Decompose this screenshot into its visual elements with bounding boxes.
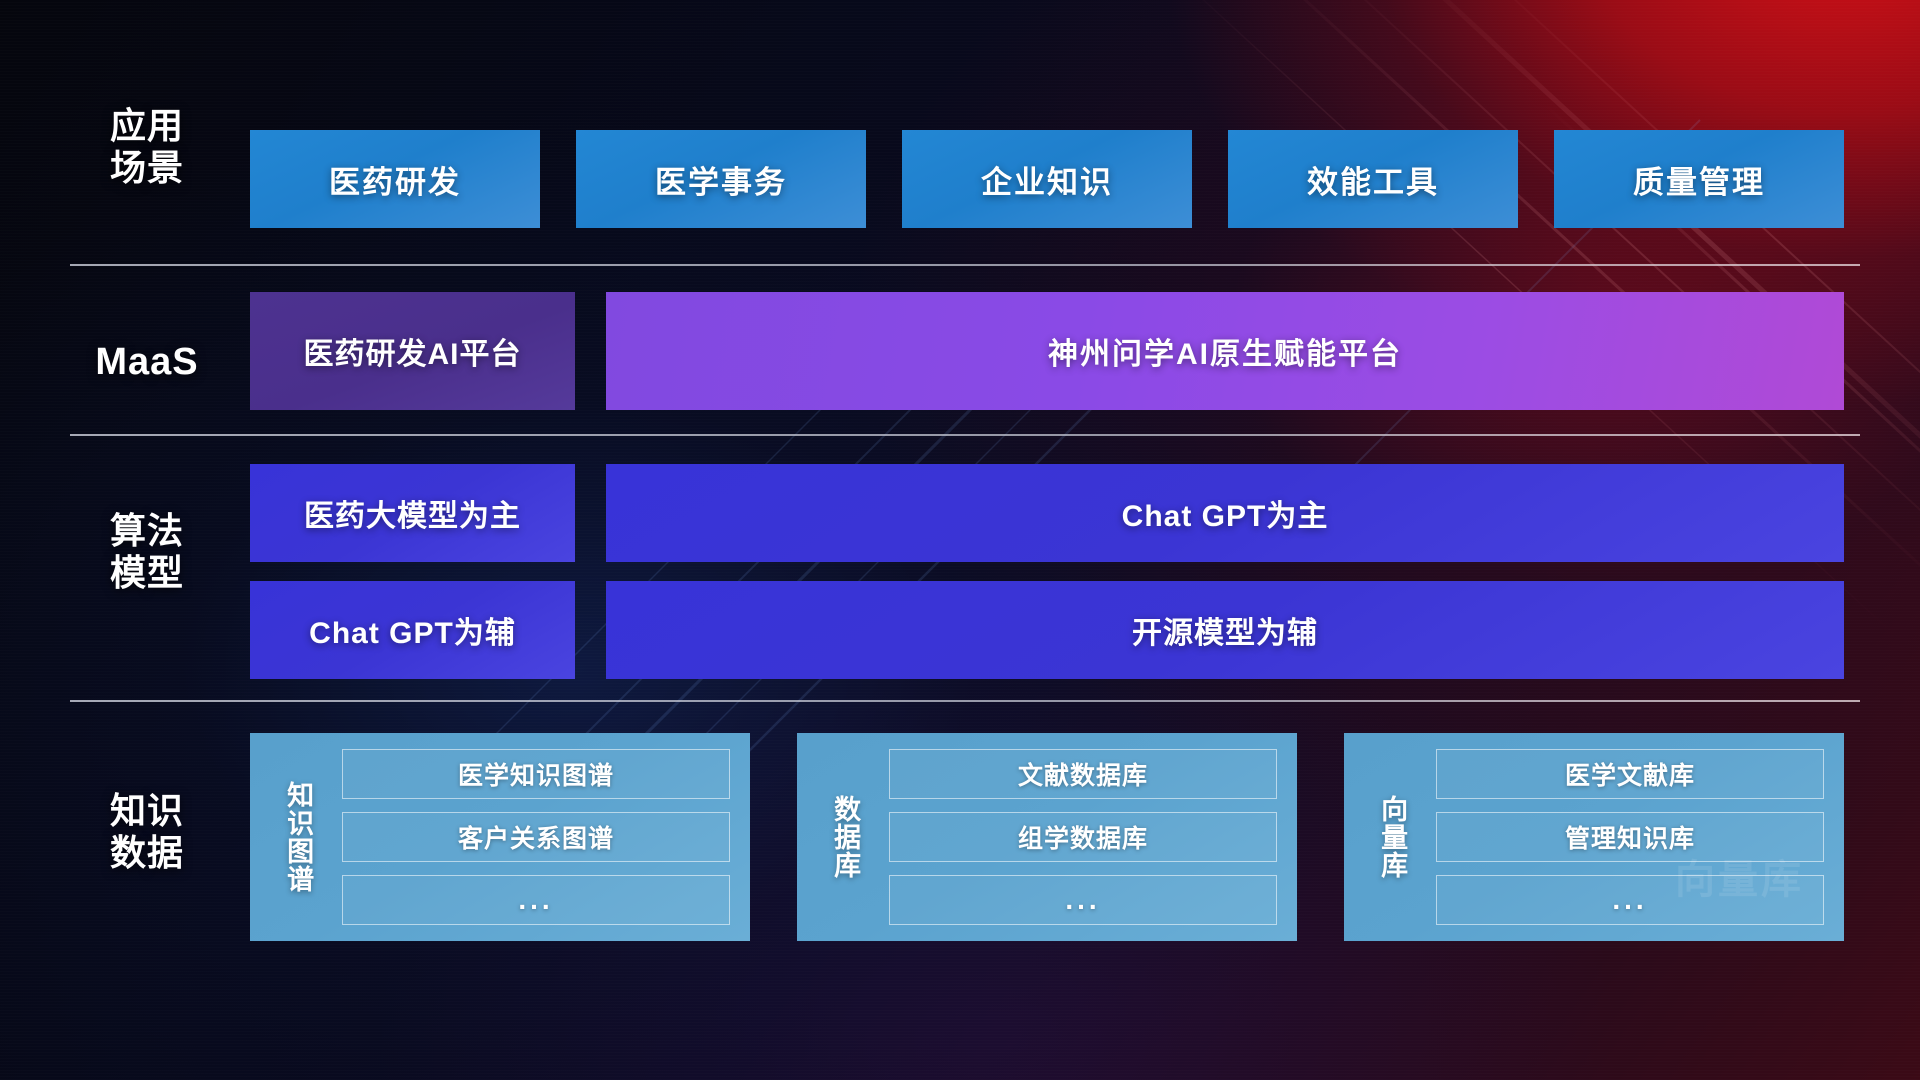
knowledge-item-more[interactable]: ... bbox=[342, 875, 730, 925]
maas-tile-pharma-ai-platform[interactable]: 医药研发AI平台 bbox=[250, 292, 575, 410]
row-label-algorithm-model: 算法 模型 bbox=[72, 510, 222, 594]
knowledge-group-vector-store[interactable]: 向量库 医学文献库 管理知识库 ... 向量库 bbox=[1344, 733, 1844, 941]
divider-1 bbox=[70, 264, 1860, 266]
knowledge-item[interactable]: 医学知识图谱 bbox=[342, 749, 730, 799]
maas-tile-shenzhou-platform[interactable]: 神州问学AI原生赋能平台 bbox=[606, 292, 1844, 410]
knowledge-group-items-1: 医学知识图谱 客户关系图谱 ... bbox=[342, 749, 734, 925]
knowledge-item[interactable]: 医学文献库 bbox=[1436, 749, 1824, 799]
knowledge-item[interactable]: 组学数据库 bbox=[889, 812, 1277, 862]
divider-2 bbox=[70, 434, 1860, 436]
app-tile-2[interactable]: 医学事务 bbox=[576, 130, 866, 228]
knowledge-item[interactable]: 客户关系图谱 bbox=[342, 812, 730, 862]
diagram-canvas: 应用 场景 医药研发 医学事务 企业知识 效能工具 质量管理 MaaS 医药研发… bbox=[0, 0, 1920, 1080]
knowledge-item[interactable]: 管理知识库 bbox=[1436, 812, 1824, 862]
row-label-maas: MaaS bbox=[72, 340, 222, 384]
app-tile-5[interactable]: 质量管理 bbox=[1554, 130, 1844, 228]
divider-3 bbox=[70, 700, 1860, 702]
row-label-knowledge-data: 知识 数据 bbox=[72, 790, 222, 874]
knowledge-group-knowledge-graph[interactable]: 知识图谱 医学知识图谱 客户关系图谱 ... bbox=[250, 733, 750, 941]
algo-tile-opensource-secondary[interactable]: 开源模型为辅 bbox=[606, 581, 1844, 679]
app-tile-1[interactable]: 医药研发 bbox=[250, 130, 540, 228]
algo-tile-chatgpt-secondary[interactable]: Chat GPT为辅 bbox=[250, 581, 575, 679]
knowledge-group-database[interactable]: 数据库 文献数据库 组学数据库 ... bbox=[797, 733, 1297, 941]
knowledge-group-title-1: 知识图谱 bbox=[268, 781, 328, 893]
algo-tile-pharma-llm-primary[interactable]: 医药大模型为主 bbox=[250, 464, 575, 562]
app-tile-3[interactable]: 企业知识 bbox=[902, 130, 1192, 228]
knowledge-item-more[interactable]: ... bbox=[1436, 875, 1824, 925]
knowledge-group-title-3: 向量库 bbox=[1362, 795, 1422, 879]
knowledge-group-items-2: 文献数据库 组学数据库 ... bbox=[889, 749, 1281, 925]
knowledge-group-items-3: 医学文献库 管理知识库 ... bbox=[1436, 749, 1828, 925]
app-tile-4[interactable]: 效能工具 bbox=[1228, 130, 1518, 228]
knowledge-item[interactable]: 文献数据库 bbox=[889, 749, 1277, 799]
algo-tile-chatgpt-primary[interactable]: Chat GPT为主 bbox=[606, 464, 1844, 562]
knowledge-item-more[interactable]: ... bbox=[889, 875, 1277, 925]
knowledge-group-title-2: 数据库 bbox=[815, 795, 875, 879]
row-label-application-scenarios: 应用 场景 bbox=[72, 105, 222, 189]
